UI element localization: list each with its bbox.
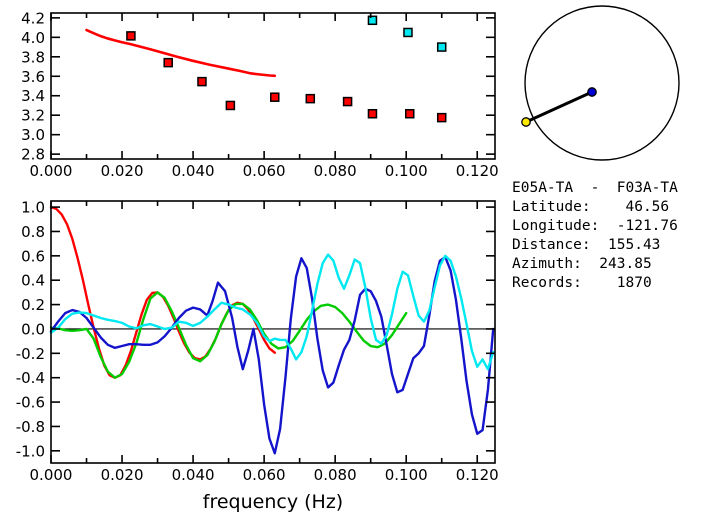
data-point-marker[interactable]	[404, 28, 412, 36]
y-tick-label: 3.0	[21, 126, 45, 144]
data-point-marker[interactable]	[226, 101, 234, 109]
y-tick-label: 3.4	[21, 87, 45, 105]
y-tick-label: 0.2	[21, 296, 45, 314]
data-point-marker[interactable]	[344, 98, 352, 106]
station-info-line: Distance: 155.43	[512, 237, 660, 253]
x-tick-label: 0.000	[30, 162, 73, 180]
y-tick-label: 4.2	[21, 9, 45, 27]
data-point-marker[interactable]	[271, 93, 279, 101]
x-tick-label: 0.080	[314, 162, 357, 180]
figure-canvas: 0.0000.0200.0400.0600.0800.1000.1202.83.…	[0, 0, 701, 519]
station-info-line: Longitude: -121.76	[512, 218, 678, 234]
station-pair-label: E05A-TA - F03A-TA	[512, 180, 678, 196]
y-tick-label: 0.6	[21, 247, 45, 265]
x-tick-label: 0.100	[385, 162, 428, 180]
x-tick-label: 0.060	[243, 466, 286, 484]
data-point-marker[interactable]	[438, 43, 446, 51]
x-tick-label: 0.080	[314, 466, 357, 484]
station-b-marker[interactable]	[522, 118, 530, 126]
figure-root: 0.0000.0200.0400.0600.0800.1000.1202.83.…	[0, 0, 701, 519]
data-point-marker[interactable]	[368, 110, 376, 118]
data-point-marker[interactable]	[438, 114, 446, 122]
x-tick-label: 0.020	[101, 162, 144, 180]
x-tick-label: 0.040	[172, 162, 215, 180]
data-point-marker[interactable]	[164, 59, 172, 67]
y-tick-label: 1.0	[21, 199, 45, 217]
data-point-marker[interactable]	[198, 78, 206, 86]
x-tick-label: 0.120	[456, 162, 499, 180]
y-tick-label: 2.8	[21, 146, 45, 164]
y-tick-label: 4.0	[21, 29, 45, 47]
x-tick-label: 0.120	[456, 466, 499, 484]
data-point-marker[interactable]	[127, 32, 135, 40]
y-tick-label: -0.4	[16, 369, 45, 387]
station-info-line: Latitude: 46.56	[512, 199, 669, 215]
y-tick-label: -0.2	[16, 345, 45, 363]
y-tick-label: 0.0	[21, 320, 45, 338]
y-tick-label: 0.8	[21, 223, 45, 241]
data-point-marker[interactable]	[368, 16, 376, 24]
y-tick-label: -1.0	[16, 442, 45, 460]
data-point-marker[interactable]	[306, 95, 314, 103]
y-tick-label: 3.2	[21, 107, 45, 125]
station-info-line: Records: 1870	[512, 275, 652, 291]
y-tick-label: -0.8	[16, 418, 45, 436]
y-tick-label: 0.4	[21, 272, 45, 290]
x-tick-label: 0.100	[385, 466, 428, 484]
y-tick-label: 3.6	[21, 68, 45, 86]
x-tick-label: 0.040	[172, 466, 215, 484]
x-tick-label: 0.060	[243, 162, 286, 180]
station-a-marker[interactable]	[588, 88, 596, 96]
y-tick-label: 3.8	[21, 48, 45, 66]
y-tick-label: -0.6	[16, 394, 45, 412]
x-tick-label: 0.020	[101, 466, 144, 484]
x-axis-label: frequency (Hz)	[203, 491, 343, 513]
data-point-marker[interactable]	[406, 110, 414, 118]
x-tick-label: 0.000	[30, 466, 73, 484]
station-info-line: Azimuth: 243.85	[512, 256, 652, 272]
